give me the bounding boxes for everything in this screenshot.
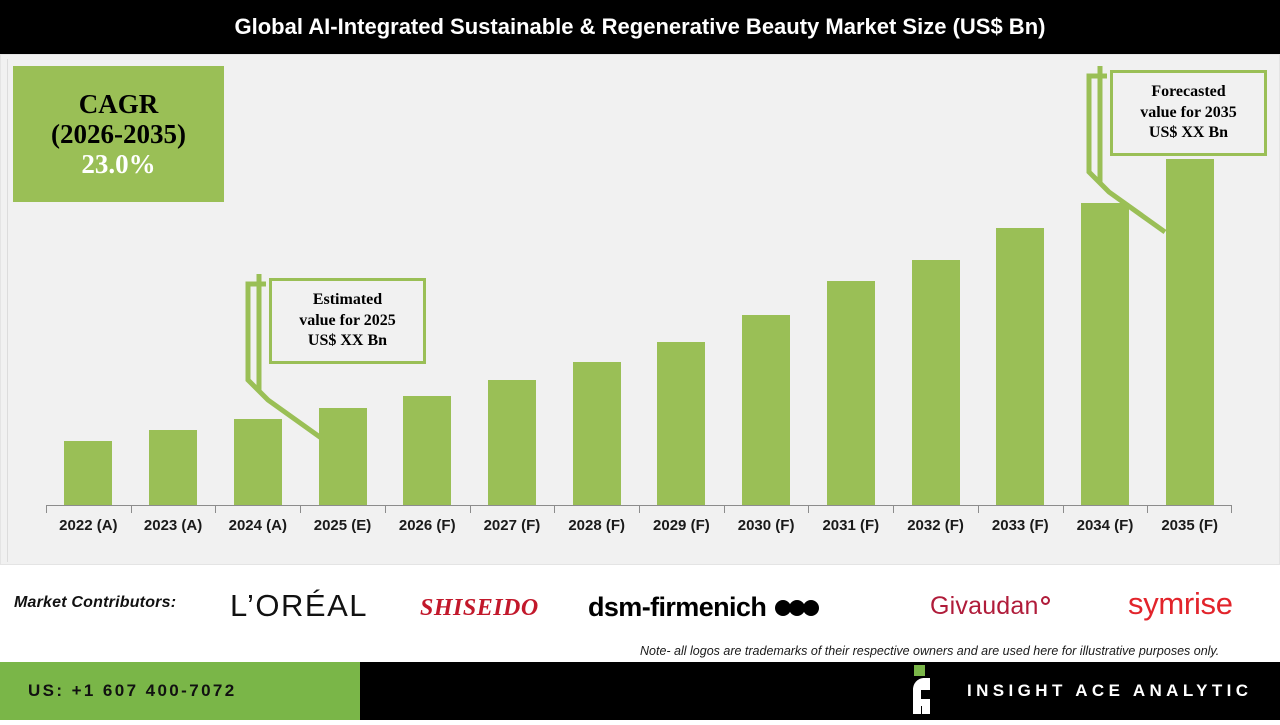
bar-2028 (573, 362, 621, 505)
x-tick (470, 505, 555, 513)
bar-slot (639, 60, 724, 505)
x-axis-label: 2023 (A) (131, 513, 216, 539)
bar-2030 (742, 315, 790, 505)
bar-2029 (657, 342, 705, 505)
bar-series (46, 60, 1232, 505)
bar-slot (808, 60, 893, 505)
x-axis-label: 2022 (A) (46, 513, 131, 539)
x-axis-label: 2025 (E) (300, 513, 385, 539)
x-axis-label: 2035 (F) (1147, 513, 1232, 539)
x-tick (893, 505, 978, 513)
symrise-logo: symrise (1128, 586, 1233, 622)
x-axis-label: 2031 (F) (808, 513, 893, 539)
x-axis-label: 2026 (F) (385, 513, 470, 539)
callout-forecasted-line2: value for 2035 (1140, 103, 1237, 123)
bar-2026 (403, 396, 451, 505)
givaudan-logo-text: Givaudan (930, 592, 1039, 620)
callout-estimated-line3: US$ XX Bn (308, 331, 387, 351)
bar-slot (978, 60, 1063, 505)
x-tick (808, 505, 893, 513)
insightace-logo-icon (893, 662, 951, 720)
bar-slot (893, 60, 978, 505)
bar-2022 (64, 441, 112, 505)
bar-2032 (912, 260, 960, 505)
callout-forecasted-line1: Forecasted (1151, 82, 1225, 102)
brand-name: INSIGHT ACE ANALYTIC (967, 681, 1252, 701)
page-title: Global AI-Integrated Sustainable & Regen… (0, 0, 1280, 54)
dsm-firmenich-logo-text: dsm-firmenich (588, 592, 766, 623)
callout-estimated-line2: value for 2025 (299, 311, 396, 331)
givaudan-logo: Givaudan (930, 592, 1050, 621)
x-tick (385, 505, 470, 513)
bar-2023 (149, 430, 197, 505)
bar-2034 (1081, 203, 1129, 505)
x-tick (300, 505, 385, 513)
x-tick (639, 505, 724, 513)
x-tick (1063, 505, 1148, 513)
x-axis-ticks (46, 505, 1232, 513)
callout-forecasted-2035: Forecasted value for 2035 US$ XX Bn (1110, 70, 1267, 156)
dsm-firmenich-logo: dsm-firmenich (588, 592, 817, 623)
bar-2033 (996, 228, 1044, 505)
callout-estimated-line1: Estimated (313, 290, 382, 310)
callout-forecasted-line3: US$ XX Bn (1149, 123, 1228, 143)
x-axis-labels: 2022 (A)2023 (A)2024 (A)2025 (E)2026 (F)… (46, 513, 1232, 539)
trademark-note: Note- all logos are trademarks of their … (640, 642, 1276, 660)
x-axis-label: 2024 (A) (215, 513, 300, 539)
x-axis-label: 2032 (F) (893, 513, 978, 539)
x-axis-label: 2027 (F) (470, 513, 555, 539)
x-tick (215, 505, 300, 513)
x-tick (554, 505, 639, 513)
market-contributors-label: Market Contributors: (14, 594, 176, 612)
x-axis-label: 2028 (F) (554, 513, 639, 539)
x-tick (978, 505, 1063, 513)
x-axis-label: 2033 (F) (978, 513, 1063, 539)
loreal-logo: L’ORÉAL (230, 588, 368, 624)
x-axis-label: 2029 (F) (639, 513, 724, 539)
x-axis-label: 2030 (F) (724, 513, 809, 539)
bar-slot (46, 60, 131, 505)
brand-lockup: INSIGHT ACE ANALYTIC (893, 662, 1252, 720)
infographic-root: Global AI-Integrated Sustainable & Regen… (0, 0, 1280, 720)
bar-slot (724, 60, 809, 505)
x-tick (46, 505, 131, 513)
x-tick (1147, 505, 1232, 513)
bar-slot (554, 60, 639, 505)
dsm-dots-icon (775, 600, 817, 616)
header-bar: Global AI-Integrated Sustainable & Regen… (0, 0, 1280, 54)
callout-estimated-2025: Estimated value for 2025 US$ XX Bn (269, 278, 426, 364)
plot-area (46, 60, 1232, 505)
x-tick (724, 505, 809, 513)
bar-2027 (488, 380, 536, 505)
bar-slot (470, 60, 555, 505)
givaudan-circle-icon (1041, 596, 1050, 605)
bar-2031 (827, 281, 875, 505)
x-axis-label: 2034 (F) (1063, 513, 1148, 539)
x-tick (131, 505, 216, 513)
footer-phone[interactable]: US: +1 607 400-7072 (0, 662, 360, 720)
shiseido-logo: SHISEIDO (420, 595, 539, 622)
bar-slot (131, 60, 216, 505)
